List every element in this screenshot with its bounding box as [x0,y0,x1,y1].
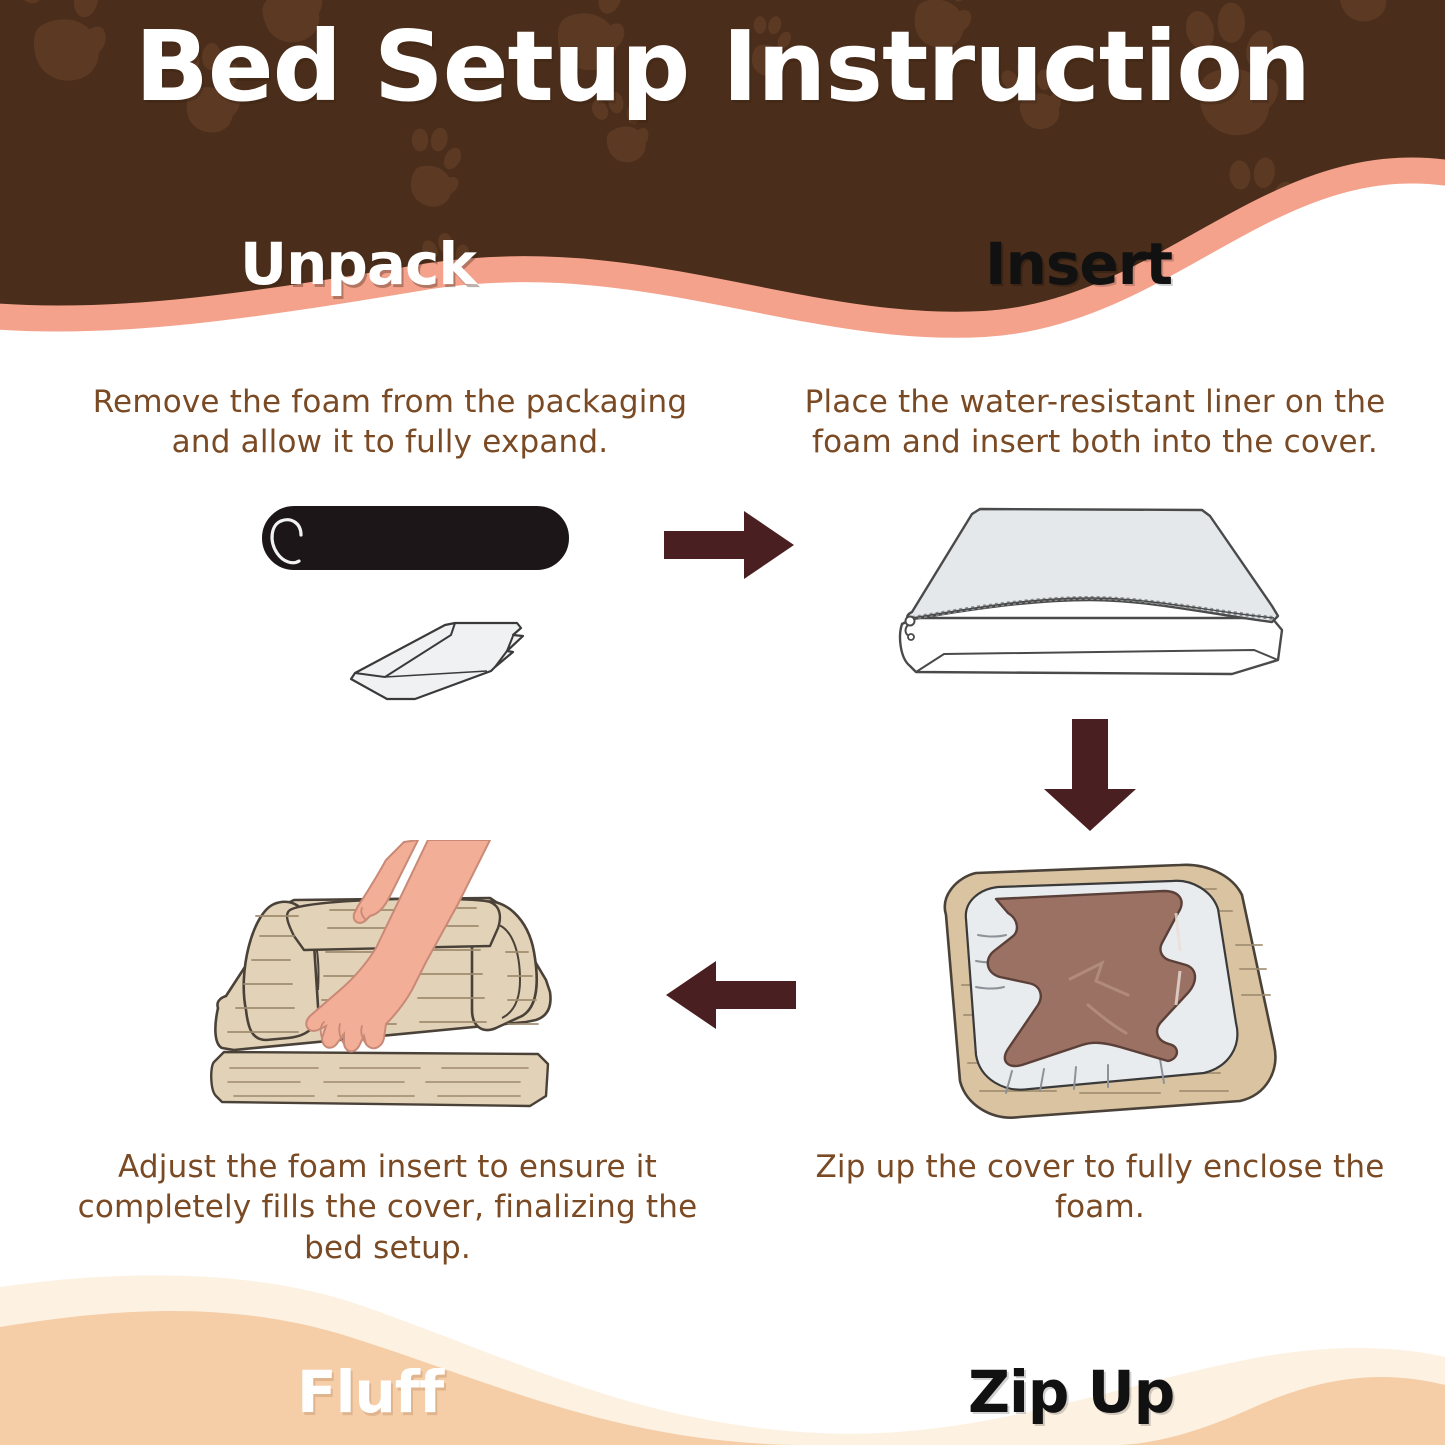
footer-banner [0,1265,1445,1445]
water-resistant-liner-icon [351,623,523,699]
arrow-right-icon [660,505,800,590]
step-label-fluff: Fluff [297,1358,443,1426]
caption-fluff: Adjust the foam insert to ensure it comp… [55,1147,720,1268]
page-title: Bed Setup Instruction [0,16,1445,118]
illustration-hand-pressing-bolster-bed [190,840,610,1135]
caption-unpack: Remove the foam from the packaging and a… [60,382,720,463]
illustration-zippered-cushion [880,490,1300,695]
illustration-cover-with-foam-inside [880,855,1300,1123]
arrow-left-icon [660,955,800,1040]
illustration-rolled-foam-and-liner [255,495,585,710]
caption-zip-up: Zip up the cover to fully enclose the fo… [785,1147,1415,1228]
step-label-insert: Insert [985,230,1172,298]
infographic-root: Bed Setup Instruction Unpack Insert Remo… [0,0,1445,1445]
header-banner: Bed Setup Instruction [0,0,1445,340]
caption-insert: Place the water-resistant liner on the f… [770,382,1420,463]
step-label-zip-up: Zip Up [968,1358,1174,1426]
footer-wave-shape [0,1265,1445,1445]
arrow-down-icon [1030,715,1150,840]
step-label-unpack: Unpack [240,230,476,298]
rolled-foam-icon [263,507,568,569]
